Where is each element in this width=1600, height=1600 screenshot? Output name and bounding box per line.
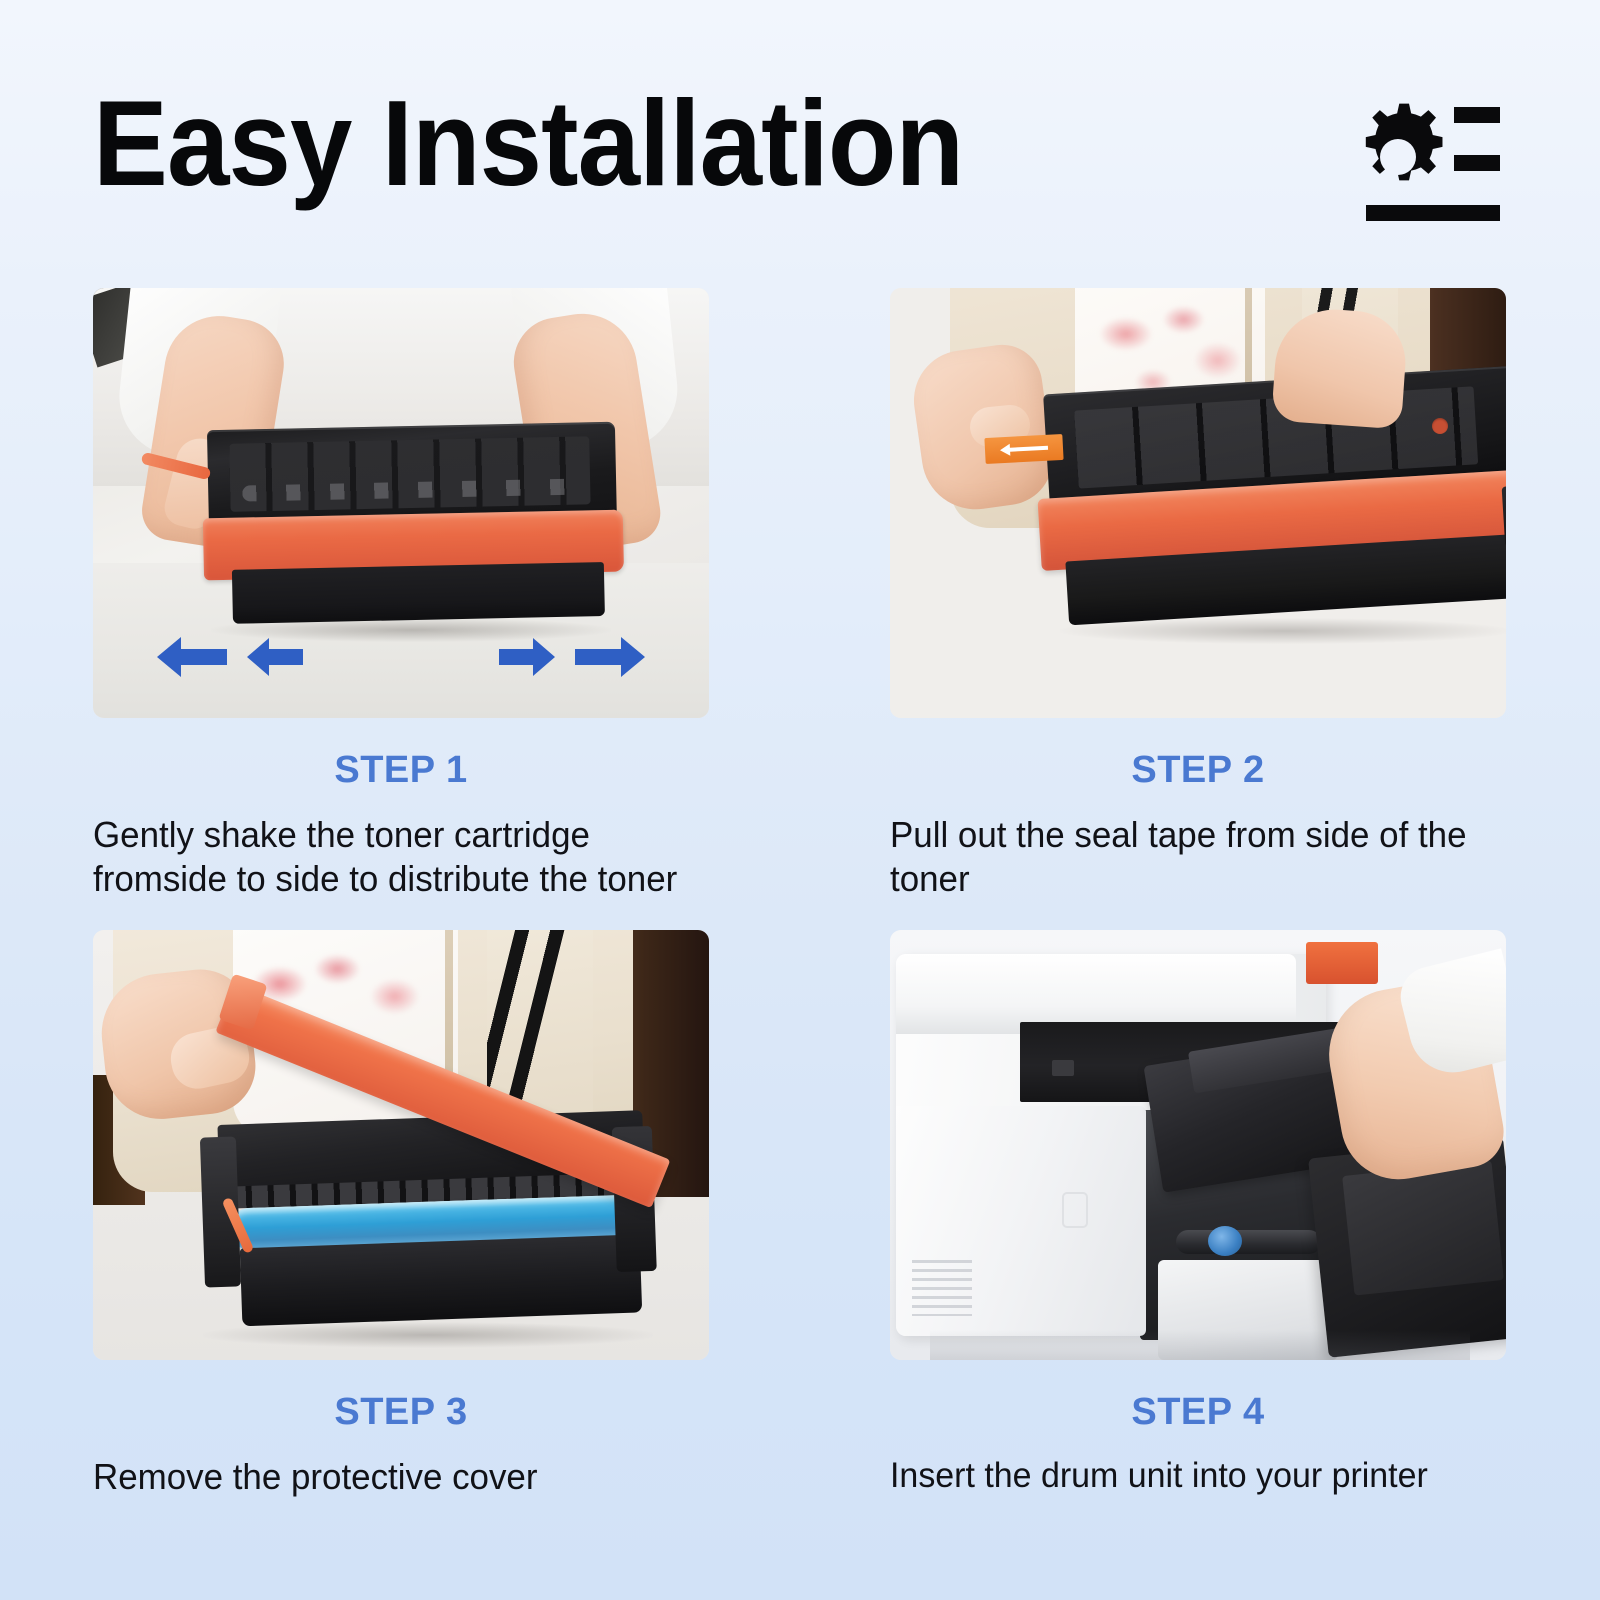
step-4-description: Insert the drum unit into your printer bbox=[890, 1455, 1488, 1498]
seal-tape-tab bbox=[984, 434, 1063, 464]
step-card-2: STEP 2 Pull out the seal tape from side … bbox=[890, 288, 1506, 901]
step-card-4: STEP 4 Insert the drum unit into your pr… bbox=[890, 930, 1506, 1498]
step-2-description: Pull out the seal tape from side of the … bbox=[890, 813, 1488, 901]
step-3-label: STEP 3 bbox=[93, 1393, 709, 1431]
step-1-description: Gently shake the toner cartridge fromsid… bbox=[93, 813, 691, 901]
shake-direction-arrows bbox=[93, 634, 709, 684]
step-1-photo bbox=[93, 288, 709, 718]
installation-steps-grid: STEP 1 Gently shake the toner cartridge … bbox=[0, 270, 1600, 1600]
step-4-label: STEP 4 bbox=[890, 1393, 1506, 1431]
step-2-label: STEP 2 bbox=[890, 751, 1506, 789]
arrow-right-icon bbox=[497, 634, 557, 680]
step-3-description: Remove the protective cover bbox=[93, 1455, 691, 1499]
arrow-right-icon bbox=[573, 634, 647, 680]
step-card-1: STEP 1 Gently shake the toner cartridge … bbox=[93, 288, 709, 901]
step-card-3: STEP 3 Remove the protective cover bbox=[93, 930, 709, 1499]
arrow-left-icon bbox=[245, 634, 305, 680]
gear-settings-icon bbox=[1330, 95, 1500, 235]
arrow-left-icon bbox=[155, 634, 229, 680]
step-3-photo bbox=[93, 930, 709, 1360]
step-4-photo bbox=[890, 930, 1506, 1360]
step-1-label: STEP 1 bbox=[93, 751, 709, 789]
page-header: Easy Installation bbox=[0, 0, 1600, 270]
step-2-photo bbox=[890, 288, 1506, 718]
page-title: Easy Installation bbox=[93, 82, 963, 204]
